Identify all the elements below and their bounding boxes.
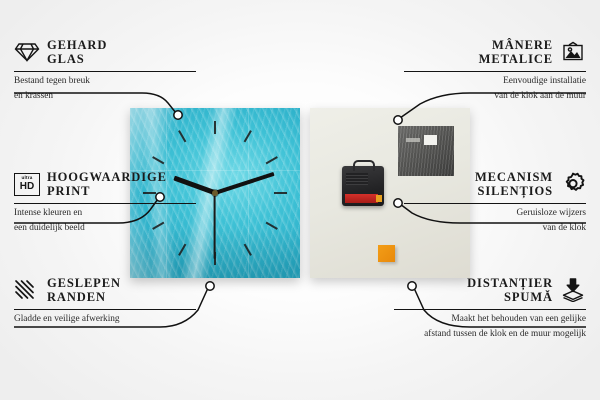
feature-subtitle-line2: en krassen xyxy=(14,90,196,102)
feature-title-line1: GEHARD xyxy=(47,38,107,52)
feature-divider xyxy=(404,71,586,72)
feature-subtitle-line1: Gladde en veilige afwerking xyxy=(14,313,196,325)
feature-title-line2: GLAS xyxy=(47,52,107,66)
feature-subtitle-line1: Maakt het behouden van een gelijke xyxy=(394,313,586,325)
gear-icon xyxy=(560,171,586,197)
beveled-edges-icon xyxy=(14,277,40,303)
spacer-arrow-icon xyxy=(560,277,586,303)
infographic-canvas: GEHARD GLAS Bestand tegen breuk en krass… xyxy=(0,0,600,400)
feature-title-line1: HOOGWAARDIGE xyxy=(47,170,167,184)
feature-divider xyxy=(14,71,196,72)
feature-title-line2: PRINT xyxy=(47,184,167,198)
feature-subtitle-line2: een duidelijk beeld xyxy=(14,222,196,234)
feature-title-line2: RANDEN xyxy=(47,290,121,304)
feature-distantier-spuma: DISTANȚIER SPUMĂ Maakt het behouden van … xyxy=(394,276,586,340)
feature-title-line2: SPUMĂ xyxy=(467,290,553,304)
feature-subtitle-line2: van de klok xyxy=(404,222,586,234)
feature-manere-metalice: MÂNERE METALICE Eenvoudige installatie v… xyxy=(404,38,586,102)
feature-subtitle-line1: Eenvoudige installatie xyxy=(404,75,586,87)
feature-subtitle-line1: Intense kleuren en xyxy=(14,207,196,219)
feature-mecanism-silentios: MECANISM SILENȚIOS Geruisloze wijzers va… xyxy=(404,170,586,234)
connector-endpoint xyxy=(174,111,182,119)
feature-divider xyxy=(394,309,586,310)
feature-geslepen-randen: GESLEPEN RANDEN Gladde en veilige afwerk… xyxy=(14,276,196,325)
feature-title-line1: MÂNERE xyxy=(479,38,553,52)
hd-icon-large-text: HD xyxy=(20,182,34,192)
feature-title-line2: SILENȚIOS xyxy=(475,184,553,198)
feature-subtitle-line2: van de klok aan de muur xyxy=(404,90,586,102)
feature-subtitle-line2: afstand tussen de klok en de muur mogeli… xyxy=(394,328,586,340)
feature-divider xyxy=(404,203,586,204)
feature-title-line2: METALICE xyxy=(479,52,553,66)
feature-divider xyxy=(14,309,196,310)
feature-title-line1: MECANISM xyxy=(475,170,553,184)
feature-subtitle-line1: Bestand tegen breuk xyxy=(14,75,196,87)
connector-endpoint xyxy=(206,282,214,290)
ultra-hd-icon: ultra HD xyxy=(14,171,40,197)
feature-hoogwaardige-print: ultra HD HOOGWAARDIGE PRINT Intense kleu… xyxy=(14,170,196,234)
picture-hanger-icon xyxy=(560,39,586,65)
diamond-icon xyxy=(14,39,40,65)
feature-gehard-glas: GEHARD GLAS Bestand tegen breuk en krass… xyxy=(14,38,196,102)
feature-title-line1: DISTANȚIER xyxy=(467,276,553,290)
connector-endpoint xyxy=(394,116,402,124)
feature-subtitle-line1: Geruisloze wijzers xyxy=(404,207,586,219)
feature-divider xyxy=(14,203,196,204)
connector-endpoint xyxy=(394,199,402,207)
feature-title-line1: GESLEPEN xyxy=(47,276,121,290)
